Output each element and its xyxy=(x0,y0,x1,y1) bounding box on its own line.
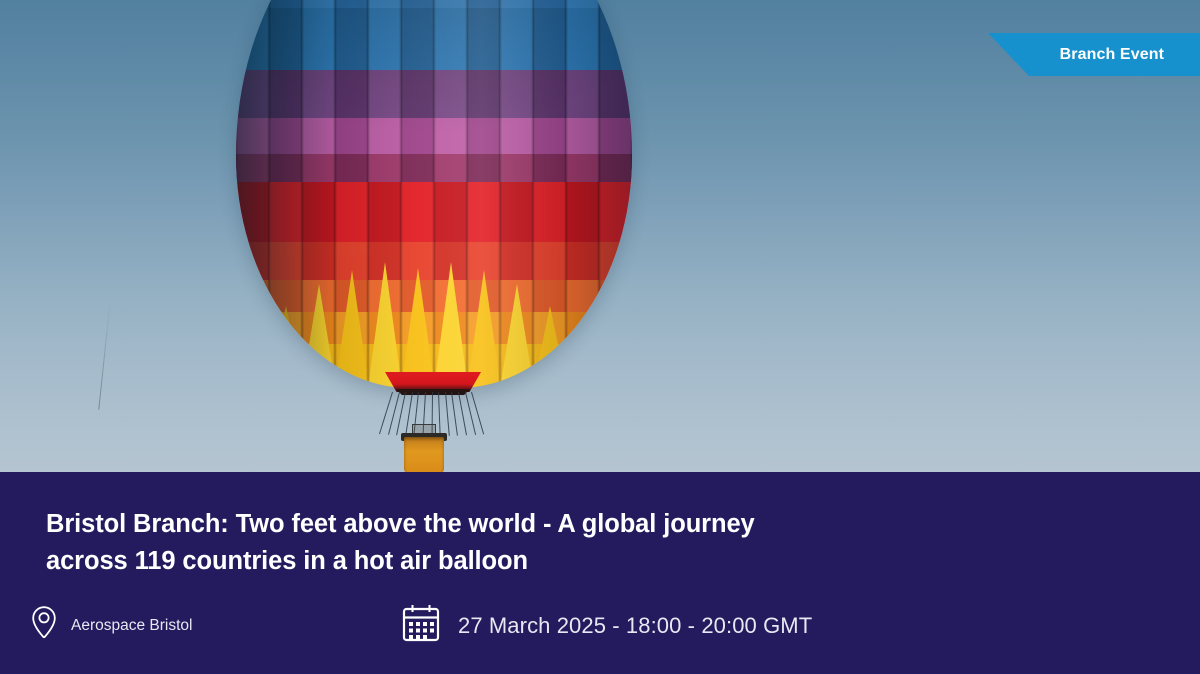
event-datetime-label: 27 March 2025 - 18:00 - 20:00 GMT xyxy=(458,613,812,639)
balloon-basket xyxy=(404,437,444,472)
location-pin-icon xyxy=(30,605,58,646)
event-datetime: 27 March 2025 - 18:00 - 20:00 GMT xyxy=(400,602,812,649)
hero-photo: Branch Event xyxy=(0,0,1200,472)
ribbon-label: Branch Event xyxy=(1060,46,1164,64)
event-meta: Aerospace Bristol xyxy=(30,602,812,649)
hot-air-balloon-image xyxy=(236,0,632,388)
event-venue-label: Aerospace Bristol xyxy=(71,617,192,635)
balloon-shading xyxy=(236,0,632,388)
branch-event-ribbon: Branch Event xyxy=(988,33,1200,76)
event-title: Bristol Branch: Two feet above the world… xyxy=(46,506,836,580)
event-footer: Bristol Branch: Two feet above the world… xyxy=(0,472,1200,674)
calendar-icon xyxy=(400,602,442,649)
event-venue: Aerospace Bristol xyxy=(30,605,400,646)
event-banner: Branch Event Bristol Branch: Two feet ab… xyxy=(0,0,1200,674)
photo-artifact xyxy=(98,300,110,410)
